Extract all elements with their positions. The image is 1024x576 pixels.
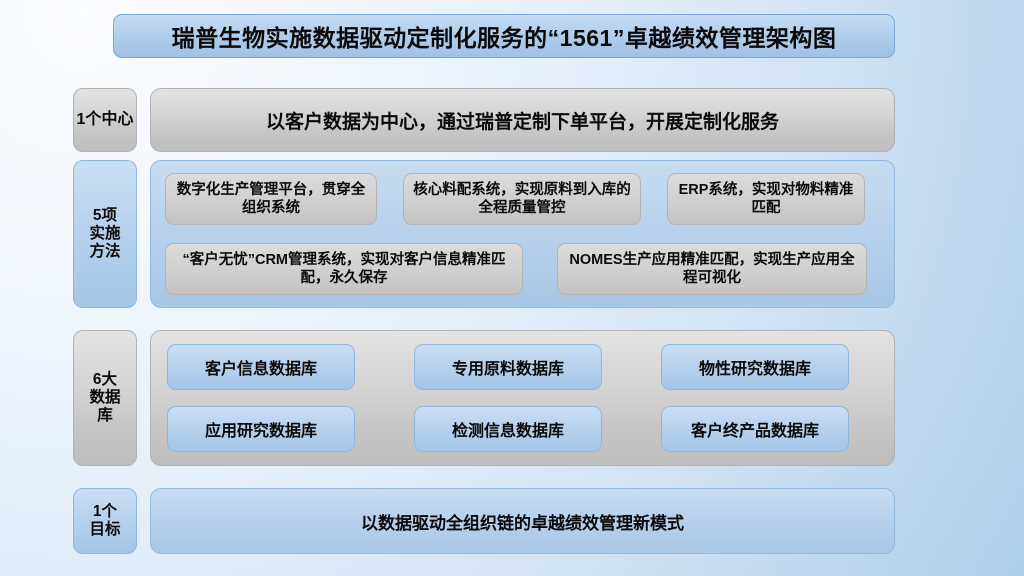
row-four-goal: 1个 目标 以数据驱动全组织链的卓越绩效管理新模式 <box>73 488 895 554</box>
methods-line-2: “客户无忧”CRM管理系统，实现对客户信息精准匹配，永久保存 NOMES生产应用… <box>165 243 880 295</box>
row-label-line-2: 中心 <box>101 111 133 130</box>
method-card[interactable]: 数字化生产管理平台，贯穿全组织系统 <box>165 173 377 225</box>
row-label-one-goal: 1个 目标 <box>73 488 137 554</box>
row-one-center: 1个 中心 以客户数据为中心，通过瑞普定制下单平台，开展定制化服务 <box>73 88 895 152</box>
row-label-line-1: 1个 <box>77 111 102 130</box>
row-label-line-3: 方法 <box>89 243 120 260</box>
row-label-line-2: 实施 <box>89 225 120 242</box>
databases-line-2: 应用研究数据库 检测信息数据库 客户终产品数据库 <box>167 406 878 452</box>
center-banner-text: 以客户数据为中心，通过瑞普定制下单平台，开展定制化服务 <box>266 107 779 134</box>
center-banner: 以客户数据为中心，通过瑞普定制下单平台，开展定制化服务 <box>150 88 895 152</box>
methods-panel: 数字化生产管理平台，贯穿全组织系统 核心料配系统，实现原料到入库的全程质量管控 … <box>150 160 895 308</box>
row-label-line-3: 库 <box>97 407 113 424</box>
database-card[interactable]: 客户信息数据库 <box>167 344 355 390</box>
database-card[interactable]: 应用研究数据库 <box>167 406 355 452</box>
database-card[interactable]: 客户终产品数据库 <box>661 406 849 452</box>
row-label-line-2: 数据 <box>89 389 120 406</box>
database-card[interactable]: 专用原料数据库 <box>414 344 602 390</box>
row-label-line-1: 5项 <box>93 207 117 224</box>
row-label-line-2: 目标 <box>89 521 120 538</box>
method-card[interactable]: NOMES生产应用精准匹配，实现生产应用全程可视化 <box>557 243 867 295</box>
diagram-title-bar: 瑞普生物实施数据驱动定制化服务的“1561”卓越绩效管理架构图 <box>113 14 895 58</box>
row-two-methods: 5项 实施 方法 数字化生产管理平台，贯穿全组织系统 核心料配系统，实现原料到入… <box>73 160 895 308</box>
row-label-six-databases: 6大 数据 库 <box>73 330 137 466</box>
database-card[interactable]: 物性研究数据库 <box>661 344 849 390</box>
methods-line-1: 数字化生产管理平台，贯穿全组织系统 核心料配系统，实现原料到入库的全程质量管控 … <box>165 173 880 225</box>
goal-banner: 以数据驱动全组织链的卓越绩效管理新模式 <box>150 488 895 554</box>
page-title: 瑞普生物实施数据驱动定制化服务的“1561”卓越绩效管理架构图 <box>172 19 837 53</box>
databases-panel: 客户信息数据库 专用原料数据库 物性研究数据库 应用研究数据库 检测信息数据库 … <box>150 330 895 466</box>
row-label-one-center: 1个 中心 <box>73 88 137 152</box>
method-card[interactable]: “客户无忧”CRM管理系统，实现对客户信息精准匹配，永久保存 <box>165 243 523 295</box>
slide-canvas: 瑞普生物实施数据驱动定制化服务的“1561”卓越绩效管理架构图 1个 中心 以客… <box>0 0 1024 576</box>
row-three-databases: 6大 数据 库 客户信息数据库 专用原料数据库 物性研究数据库 应用研究数据库 … <box>73 330 895 466</box>
databases-line-1: 客户信息数据库 专用原料数据库 物性研究数据库 <box>167 344 878 390</box>
row-label-five-methods: 5项 实施 方法 <box>73 160 137 308</box>
row-label-line-1: 1个 <box>93 503 117 520</box>
method-card[interactable]: ERP系统，实现对物料精准匹配 <box>667 173 865 225</box>
goal-banner-text: 以数据驱动全组织链的卓越绩效管理新模式 <box>361 509 684 534</box>
method-card[interactable]: 核心料配系统，实现原料到入库的全程质量管控 <box>403 173 641 225</box>
row-label-line-1: 6大 <box>93 371 117 388</box>
database-card[interactable]: 检测信息数据库 <box>414 406 602 452</box>
